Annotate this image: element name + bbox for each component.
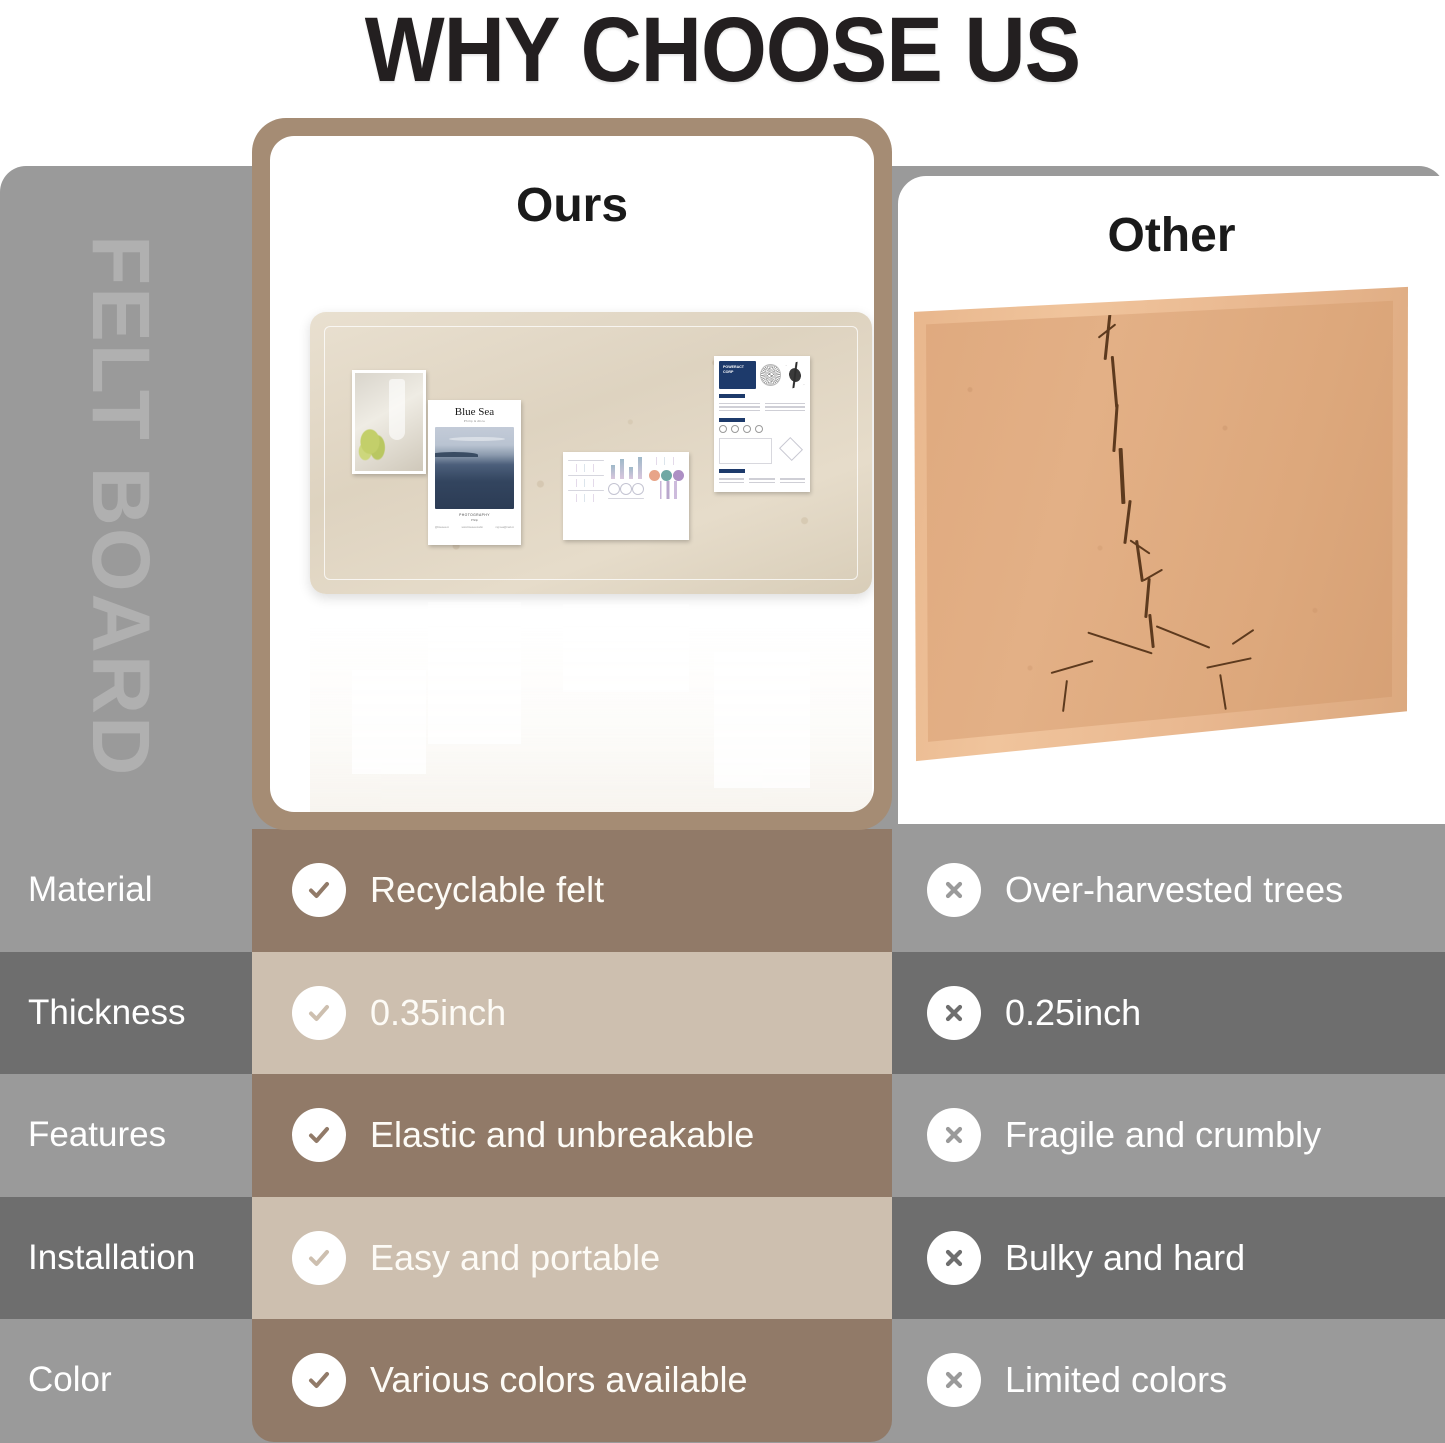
- poster-caption: PHOTOGRAPHY: [435, 513, 514, 517]
- cross-icon: [927, 1353, 981, 1407]
- resume-company-badge: POWERACT CORP: [719, 361, 756, 389]
- cross-icon: [927, 863, 981, 917]
- row-other-text: Over-harvested trees: [1005, 869, 1343, 911]
- row-other-cell: Limited colors: [892, 1319, 1445, 1442]
- poster-image: [435, 427, 514, 509]
- row-other-cell: Fragile and crumbly: [892, 1074, 1445, 1197]
- watermark-text: FELT BOARD: [73, 235, 167, 655]
- poster-footer: @bluesea.co www.bluesea.studio mgr.sea@m…: [435, 526, 514, 529]
- ours-product-card: Ours Blue Sea Philip & Alice PHOTOGRAPHY…: [252, 118, 892, 830]
- cork-crack: [1123, 500, 1131, 544]
- resume-radar-chart: [777, 436, 805, 462]
- cork-crack: [1148, 614, 1155, 648]
- comparison-table: Material Recyclable felt Over-harvested …: [0, 829, 1445, 1443]
- infographic-histogram: [648, 481, 684, 499]
- cross-icon: [927, 986, 981, 1040]
- row-label: Color: [0, 1319, 252, 1442]
- pinned-poster: Blue Sea Philip & Alice PHOTOGRAPHY Phil…: [428, 400, 521, 545]
- infographic-circles: [608, 483, 644, 495]
- infographic-grid: [568, 457, 684, 535]
- row-other-cell: 0.25inch: [892, 952, 1445, 1075]
- row-ours-text: Various colors available: [370, 1359, 748, 1401]
- cross-icon: [927, 1231, 981, 1285]
- cross-icon: [927, 1108, 981, 1162]
- resume-header: POWERACT CORP: [719, 361, 805, 389]
- row-ours-text: Recyclable felt: [370, 869, 604, 911]
- check-icon: [292, 1353, 346, 1407]
- resume-company-name: POWERACT CORP: [723, 365, 752, 375]
- resume-section-bar: [719, 418, 745, 422]
- cork-crack-branch: [1129, 539, 1150, 554]
- row-ours-cell: Elastic and unbreakable: [252, 1074, 892, 1197]
- other-heading: Other: [898, 208, 1445, 263]
- row-label: Installation: [0, 1197, 252, 1320]
- cork-board-image: [910, 284, 1410, 764]
- cork-crack: [1144, 578, 1150, 618]
- infographic-cell: [648, 457, 684, 535]
- infographic-cell: [608, 457, 644, 535]
- cork-crack: [1104, 314, 1112, 360]
- infographic-dots: [648, 470, 684, 481]
- pinned-resume: POWERACT CORP: [714, 356, 810, 492]
- row-ours-text: Elastic and unbreakable: [370, 1114, 754, 1156]
- pinned-photo: [352, 370, 426, 474]
- cork-crack: [1112, 404, 1118, 452]
- table-row: Color Various colors available Limited c…: [0, 1319, 1445, 1442]
- row-ours-cell: Various colors available: [252, 1319, 892, 1442]
- cork-crack-branch: [1143, 569, 1163, 582]
- resume-section-bar: [719, 469, 745, 473]
- cork-crack-branch: [1206, 657, 1251, 669]
- poster-footer-item: @bluesea.co: [435, 526, 449, 529]
- table-row: Installation Easy and portable Bulky and…: [0, 1197, 1445, 1320]
- infographic-bars: [608, 457, 644, 479]
- resume-leaf-icon: [782, 360, 809, 389]
- cork-crack: [1111, 356, 1119, 408]
- poster-footer-item: mgr.sea@mail.co: [495, 526, 514, 529]
- pinned-photo-image: [355, 373, 423, 471]
- cork-crack: [1119, 448, 1126, 504]
- poster-title: Blue Sea: [435, 406, 514, 418]
- row-ours-cell: Easy and portable: [252, 1197, 892, 1320]
- infographic-cell: [568, 457, 604, 535]
- row-other-text: Limited colors: [1005, 1359, 1227, 1401]
- table-row: Thickness 0.35inch 0.25inch: [0, 952, 1445, 1075]
- poster-subtitle: Philip & Alice: [435, 419, 514, 423]
- row-ours-cell: 0.35inch: [252, 952, 892, 1075]
- row-ours-text: Easy and portable: [370, 1237, 660, 1279]
- resume-columns: [719, 401, 805, 413]
- felt-board-reflection: [310, 602, 872, 812]
- cork-crack-branch: [1156, 625, 1211, 649]
- resume-table: [719, 438, 772, 464]
- table-row: Features Elastic and unbreakable Fragile…: [0, 1074, 1445, 1197]
- ours-heading: Ours: [270, 178, 874, 233]
- resume-columns: [719, 476, 805, 485]
- ours-card-inner: Ours Blue Sea Philip & Alice PHOTOGRAPHY…: [270, 136, 874, 812]
- row-other-text: 0.25inch: [1005, 992, 1141, 1034]
- poster-footer-item: www.bluesea.studio: [462, 526, 483, 529]
- pinned-infographic: [563, 452, 689, 540]
- other-product-card: Other: [898, 176, 1445, 824]
- resume-section-bar: [719, 394, 745, 398]
- row-other-text: Fragile and crumbly: [1005, 1114, 1321, 1156]
- row-other-cell: Over-harvested trees: [892, 829, 1445, 952]
- cork-board-surface: [910, 284, 1410, 764]
- cork-crack-branch: [1232, 629, 1255, 645]
- cork-crack-branch: [1051, 660, 1094, 674]
- check-icon: [292, 986, 346, 1040]
- table-row: Material Recyclable felt Over-harvested …: [0, 829, 1445, 952]
- resume-icon-row: [719, 425, 805, 433]
- check-icon: [292, 863, 346, 917]
- check-icon: [292, 1231, 346, 1285]
- felt-board-image: Blue Sea Philip & Alice PHOTOGRAPHY Phil…: [310, 312, 872, 594]
- row-other-text: Bulky and hard: [1005, 1237, 1245, 1279]
- row-label: Features: [0, 1074, 252, 1197]
- check-icon: [292, 1108, 346, 1162]
- row-label: Thickness: [0, 952, 252, 1075]
- resume-mandala-icon: [760, 364, 780, 386]
- row-other-cell: Bulky and hard: [892, 1197, 1445, 1320]
- row-ours-text: 0.35inch: [370, 992, 506, 1034]
- row-ours-cell: Recyclable felt: [252, 829, 892, 952]
- cork-crack-branch: [1087, 632, 1152, 655]
- cork-crack-branch: [1062, 680, 1068, 712]
- poster-caption-secondary: Philip: [435, 518, 514, 522]
- row-label: Material: [0, 829, 252, 952]
- cork-crack-branch: [1219, 674, 1227, 710]
- page-title: WHY CHOOSE US: [58, 0, 1387, 100]
